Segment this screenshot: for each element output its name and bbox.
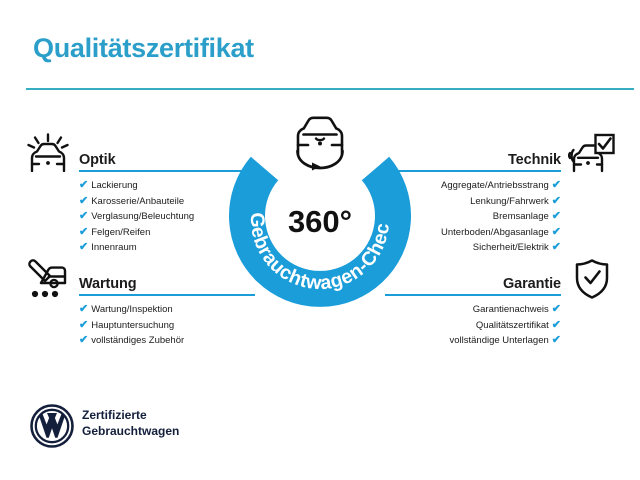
check-icon: ✔ xyxy=(79,194,88,209)
page-title: Qualitätszertifikat xyxy=(33,33,254,64)
header-divider xyxy=(26,88,634,90)
list-item-label: Qualitätszertifikat xyxy=(476,320,549,331)
footer-claim-line2: Gebrauchtwagen xyxy=(82,424,179,440)
list-item-label: Aggregate/Antriebsstrang xyxy=(441,180,549,191)
list-item-label: Innenraum xyxy=(91,242,136,253)
list-item-label: Unterboden/Abgasanlage xyxy=(441,227,549,238)
list-item-label: Garantienachweis xyxy=(473,304,549,315)
check-icon: ✔ xyxy=(79,225,88,240)
car-front-shine-icon xyxy=(26,133,70,180)
section-title: Garantie xyxy=(503,276,561,292)
check-icon: ✔ xyxy=(552,178,561,193)
check-icon: ✔ xyxy=(552,318,561,333)
car-front-rotate-icon xyxy=(285,114,355,183)
list-item-label: Wartung/Inspektion xyxy=(91,304,173,315)
check-icon: ✔ xyxy=(79,240,88,255)
check-icon: ✔ xyxy=(79,318,88,333)
check-icon: ✔ xyxy=(552,333,561,348)
car-front-checkbox-icon xyxy=(568,133,616,180)
list-item-label: Felgen/Reifen xyxy=(91,227,150,238)
list-item-label: Lenkung/Fahrwerk xyxy=(470,196,549,207)
shield-check-icon xyxy=(573,258,611,305)
section-title: Optik xyxy=(79,152,116,168)
check-icon: ✔ xyxy=(552,225,561,240)
list-item-label: Sicherheit/Elektrik xyxy=(473,242,549,253)
section-title: Wartung xyxy=(79,276,137,292)
list-item-label: Hauptuntersuchung xyxy=(91,320,174,331)
check-icon: ✔ xyxy=(552,194,561,209)
list-item: vollständige Unterlagen✔ xyxy=(385,333,561,349)
list-item-label: Lackierung xyxy=(91,180,137,191)
car-service-wrench-icon xyxy=(26,258,70,305)
volkswagen-logo xyxy=(30,404,74,453)
check-icon: ✔ xyxy=(79,178,88,193)
list-item-label: vollständiges Zubehör xyxy=(91,335,184,346)
list-item: ✔vollständiges Zubehör xyxy=(79,333,255,349)
check-icon: ✔ xyxy=(552,209,561,224)
list-item-label: Karosserie/Anbauteile xyxy=(91,196,184,207)
footer-claim-line1: Zertifizierte xyxy=(82,408,179,424)
check-icon: ✔ xyxy=(552,240,561,255)
check-icon: ✔ xyxy=(79,302,88,317)
list-item: ✔Hauptuntersuchung xyxy=(79,318,255,334)
check-icon: ✔ xyxy=(79,209,88,224)
badge-360-gebrauchtwagen-check: Gebrauchtwagen-Check 360° xyxy=(228,128,412,312)
list-item: Qualitätszertifikat✔ xyxy=(385,318,561,334)
check-icon: ✔ xyxy=(552,302,561,317)
badge-degrees-label: 360° xyxy=(228,204,412,240)
certificate-page: Qualitätszertifikat xyxy=(0,0,640,480)
list-item-label: vollständige Unterlagen xyxy=(449,335,548,346)
footer-claim: Zertifizierte Gebrauchtwagen xyxy=(82,408,179,439)
list-item-label: Verglasung/Beleuchtung xyxy=(91,211,194,222)
section-title: Technik xyxy=(508,152,561,168)
list-item-label: Bremsanlage xyxy=(493,211,549,222)
check-icon: ✔ xyxy=(79,333,88,348)
